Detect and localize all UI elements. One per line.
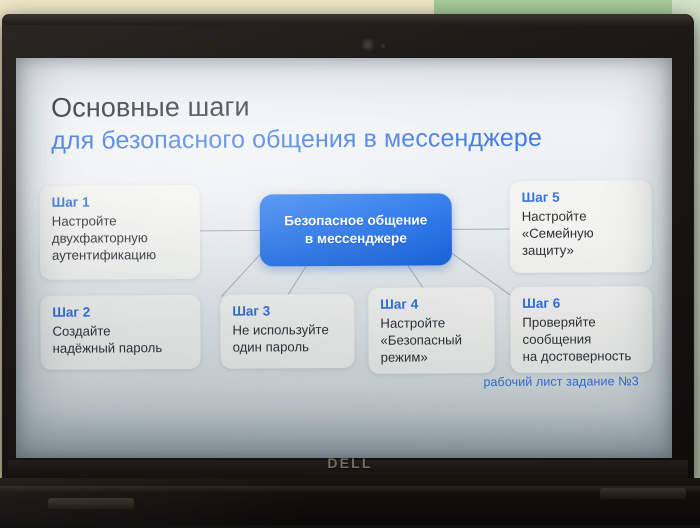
step-card-1[interactable]: Шаг 1 Настройте двухфакторную аутентифик… xyxy=(40,185,201,280)
step-card-5[interactable]: Шаг 5 Настройте «Семейную защиту» xyxy=(510,180,653,273)
center-node-line2: в мессенджере xyxy=(284,229,427,248)
slide-title: Основные шаги для безопасного общения в … xyxy=(51,90,542,157)
step-card-3-line1: Не используйте xyxy=(232,321,343,339)
center-node[interactable]: Безопасное общение в мессенджере xyxy=(260,193,452,266)
webcam-led-icon xyxy=(381,44,385,48)
step-card-3-line2: один пароль xyxy=(232,338,343,356)
slide-footer: рабочий лист задание №3 xyxy=(483,374,638,389)
step-card-2-line2: надёжный пароль xyxy=(52,339,189,357)
laptop-lid-top-edge xyxy=(4,14,692,25)
laptop: Основные шаги для безопасного общения в … xyxy=(0,8,700,528)
step-card-5-label: Шаг 5 xyxy=(522,189,641,207)
step-card-3-label: Шаг 3 xyxy=(232,303,343,321)
laptop-base-sheen xyxy=(0,478,700,525)
step-card-2-label: Шаг 2 xyxy=(52,304,189,322)
step-card-6-line3: на достоверность xyxy=(523,347,642,365)
step-card-5-line2: «Семейную xyxy=(522,224,641,242)
step-card-4-line3: режим» xyxy=(381,348,484,366)
step-card-5-line3: защиту» xyxy=(522,241,641,259)
title-line-1: Основные шаги xyxy=(51,90,542,123)
dell-logo: DELL xyxy=(0,455,700,471)
title-line-2: для безопасного общения в мессенджере xyxy=(51,123,542,157)
webcam-icon xyxy=(361,39,376,53)
step-card-3[interactable]: Шаг 3 Не используйте один пароль xyxy=(220,294,354,369)
step-card-4-label: Шаг 4 xyxy=(380,296,483,314)
step-card-4-line2: «Безопасный xyxy=(380,331,483,349)
step-card-1-label: Шаг 1 xyxy=(52,194,189,212)
step-card-6-line1: Проверяйте xyxy=(522,313,641,331)
step-card-2-line1: Создайте xyxy=(52,322,189,340)
step-card-5-line1: Настройте xyxy=(522,207,641,225)
step-card-6[interactable]: Шаг 6 Проверяйте сообщения на достоверно… xyxy=(510,286,653,373)
laptop-screen[interactable]: Основные шаги для безопасного общения в … xyxy=(16,58,672,458)
center-node-line1: Безопасное общение xyxy=(284,212,427,231)
step-card-6-label: Шаг 6 xyxy=(522,295,641,313)
step-card-2[interactable]: Шаг 2 Создайте надёжный пароль xyxy=(40,295,200,370)
step-card-1-line3: аутентификацию xyxy=(52,246,189,264)
step-card-4[interactable]: Шаг 4 Настройте «Безопасный режим» xyxy=(368,287,495,374)
presentation-slide: Основные шаги для безопасного общения в … xyxy=(16,58,672,458)
step-card-1-line1: Настройте xyxy=(52,212,189,230)
step-card-1-line2: двухфакторную xyxy=(52,229,189,247)
step-card-6-line2: сообщения xyxy=(522,330,641,348)
step-card-4-line1: Настройте xyxy=(380,314,483,332)
